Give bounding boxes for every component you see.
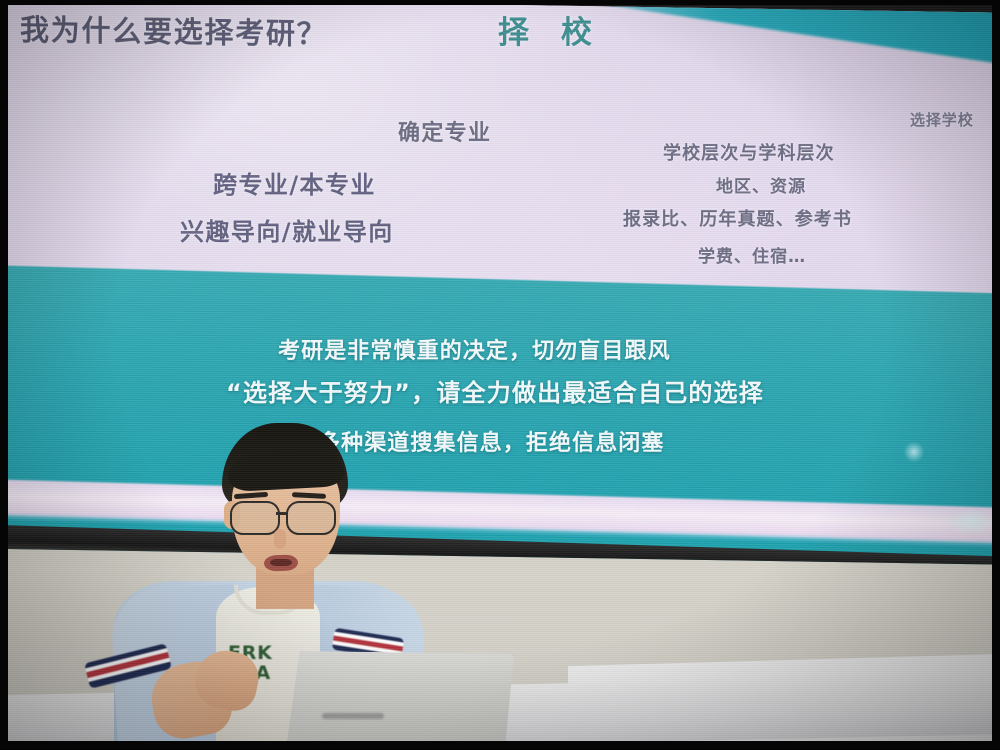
slide-heading: 择 校 [498,7,602,52]
slide-left-column-line-1: 跨专业/本专业 [213,165,376,200]
slide-right-column-line-3: 报录比、历年真题、参考书 [623,205,852,231]
glasses-bridge [276,512,288,515]
speaker-mouth-inner [270,559,292,566]
slide-left-column-header: 确定专业 [398,115,491,147]
laptop-lid [286,651,514,741]
slide-sparkle-mark-2 [948,509,992,535]
slide-title: 我为什么要选择考研？ [20,7,327,53]
glasses-lens-right [286,501,336,535]
callout-line-1: 考研是非常慎重的决定，切勿盲目跟风 [278,333,671,365]
speaker-nose [274,529,286,549]
glasses-icon [228,501,346,531]
photo-frame: 我为什么要选择考研？ 择 校 确定专业 跨专业/本专业 兴趣导向/就业导向 选择… [8,5,992,741]
callout-line-2: “选择大于努力”，请全力做出最适合自己的选择 [226,373,764,408]
glasses-lens-left [230,501,280,535]
laptop-device [286,651,516,741]
slide-right-column-header: 选择学校 [910,109,974,130]
slide-right-column-line-2: 地区、资源 [716,172,806,197]
screenshot-root: 我为什么要选择考研？ 择 校 确定专业 跨专业/本专业 兴趣导向/就业导向 选择… [0,0,1000,750]
slide-right-column-line-4: 学费、住宿… [698,242,806,267]
laptop-logo [322,713,384,719]
slide-right-column-line-1: 学校层次与学科层次 [663,139,835,165]
slide-left-column-line-2: 兴趣导向/就业导向 [180,212,394,247]
